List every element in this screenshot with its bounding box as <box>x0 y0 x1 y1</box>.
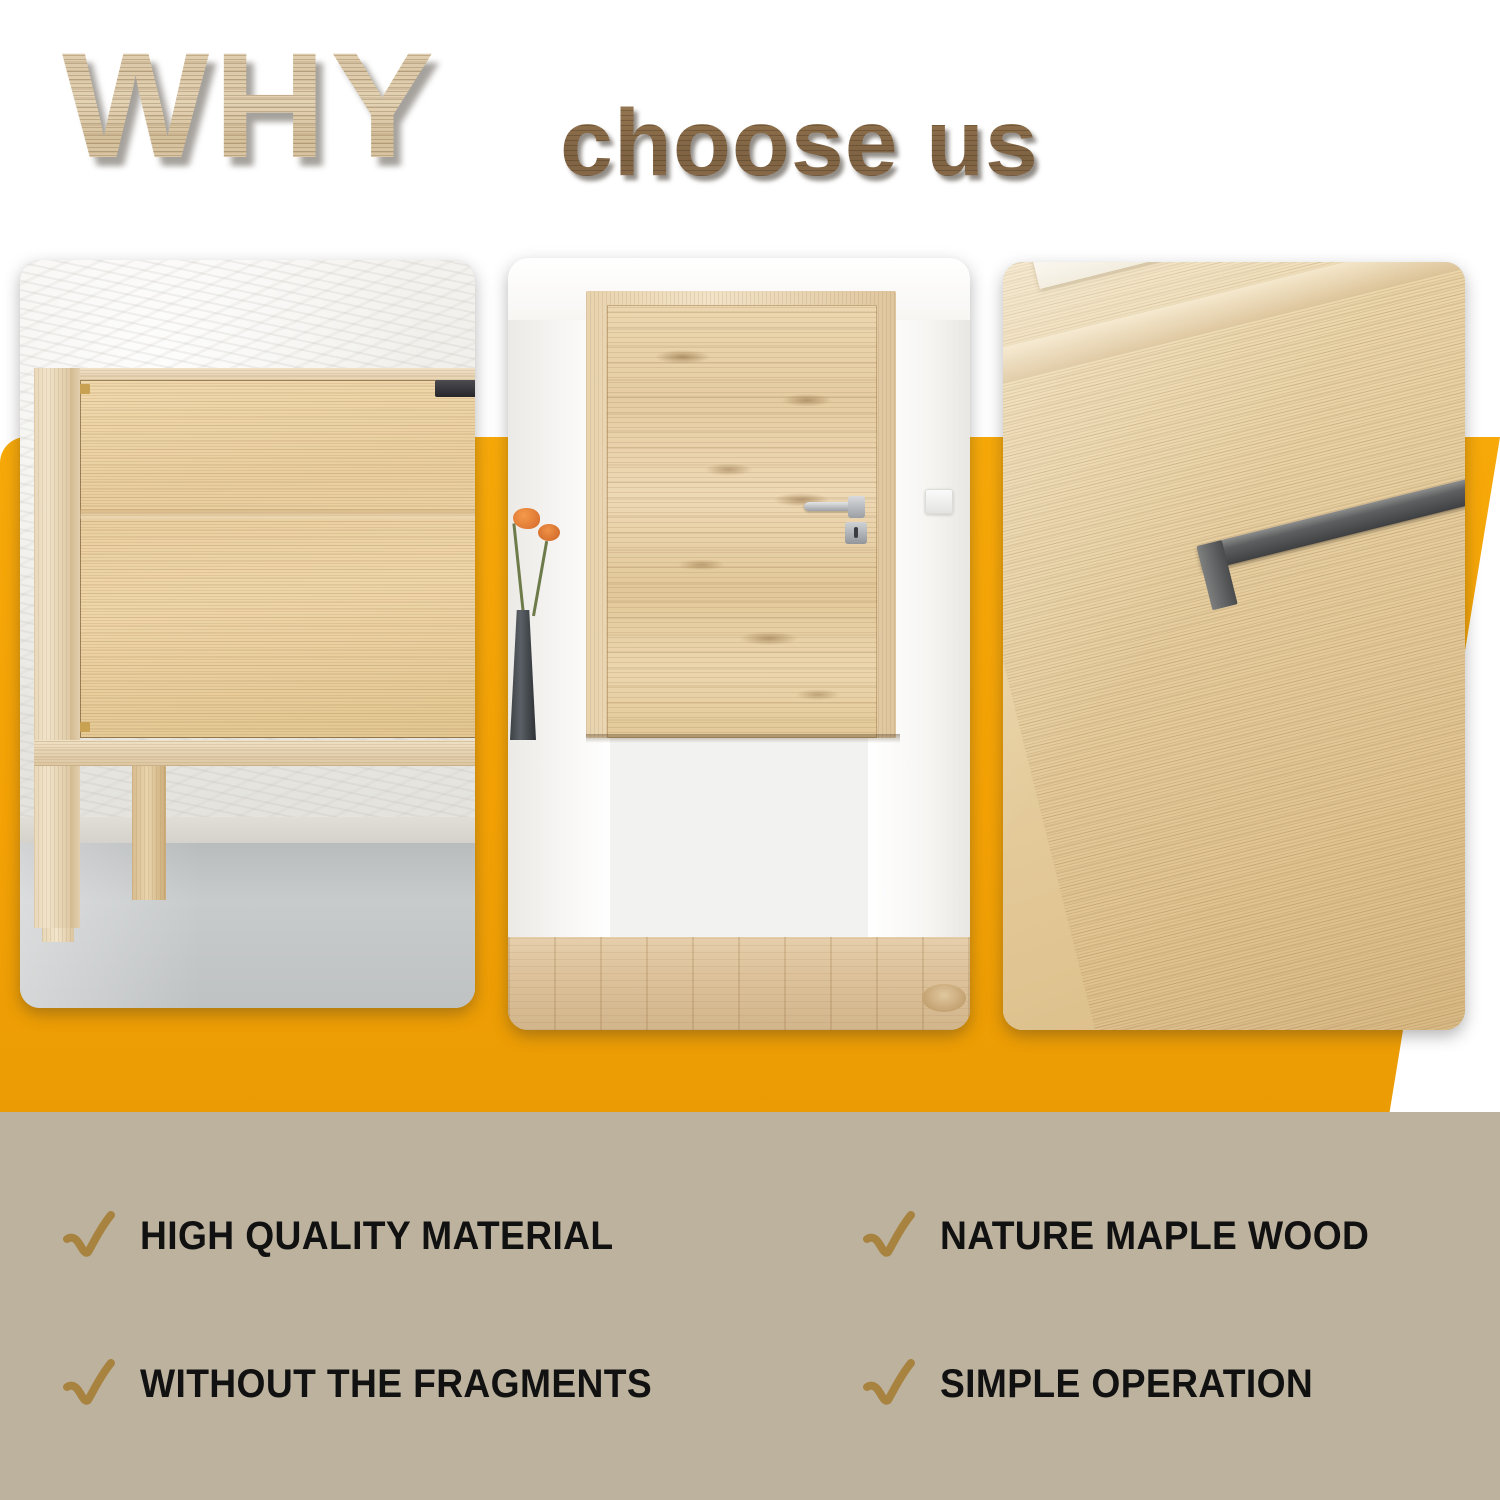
page-title-why: WHY <box>62 30 438 180</box>
door-keyhole-escutcheon <box>845 522 867 544</box>
cabinet-bar-handle <box>435 380 475 397</box>
check-icon <box>862 1356 918 1412</box>
cabinet-bottom-rail <box>34 740 475 766</box>
door-handle-rose <box>848 496 865 518</box>
feature-label: SIMPLE OPERATION <box>940 1362 1313 1406</box>
cabinet-hinge-top <box>80 384 90 394</box>
cabinet-left-post-inner <box>70 368 80 928</box>
feature-item-nature-maple-wood: NATURE MAPLE WOOD <box>862 1208 1402 1264</box>
feature-label: NATURE MAPLE WOOD <box>940 1214 1369 1258</box>
floor-surface <box>20 843 475 1008</box>
wood-floor <box>508 937 970 1030</box>
check-icon <box>62 1356 118 1412</box>
light-switch <box>925 489 953 514</box>
door-threshold-shadow <box>586 734 900 743</box>
cabinet-left-post <box>34 368 70 928</box>
photo-oak-interior-door <box>508 258 970 1030</box>
feature-item-simple-operation: SIMPLE OPERATION <box>862 1356 1341 1412</box>
feature-label: WITHOUT THE FRAGMENTS <box>140 1362 652 1406</box>
gallery-card-oak-sideboard-cabinet[interactable] <box>20 260 475 1008</box>
oak-door-leaf <box>607 305 877 738</box>
poppy-flower-left <box>513 508 540 529</box>
check-icon <box>862 1208 918 1264</box>
photo-oak-sideboard-cabinet <box>20 260 475 1008</box>
cabinet-hinge-bottom <box>80 722 90 732</box>
header: WHY choose us <box>0 0 1500 240</box>
wooden-stool-stump <box>922 984 966 1012</box>
features-list: HIGH QUALITY MATERIAL NATURE MAPLE WOOD … <box>0 1112 1500 1500</box>
gallery-card-oak-interior-door[interactable] <box>508 258 970 1030</box>
feature-label: HIGH QUALITY MATERIAL <box>140 1214 613 1258</box>
gallery-card-drawer-front-closeup[interactable] <box>1003 262 1465 1030</box>
photo-drawer-front-closeup <box>1003 262 1465 1030</box>
cabinet-flap-door <box>80 380 475 738</box>
macro-light-sheen <box>1003 262 1465 1030</box>
feature-item-high-quality-material: HIGH QUALITY MATERIAL <box>62 1208 649 1264</box>
check-icon <box>62 1208 118 1264</box>
page-title-choose-us: choose us <box>560 96 1039 191</box>
cabinet-leg-middle <box>132 766 166 900</box>
promo-banner: WHY choose us <box>0 0 1500 1500</box>
poppy-flower-right <box>538 524 560 541</box>
feature-item-without-the-fragments: WITHOUT THE FRAGMENTS <box>62 1356 691 1412</box>
